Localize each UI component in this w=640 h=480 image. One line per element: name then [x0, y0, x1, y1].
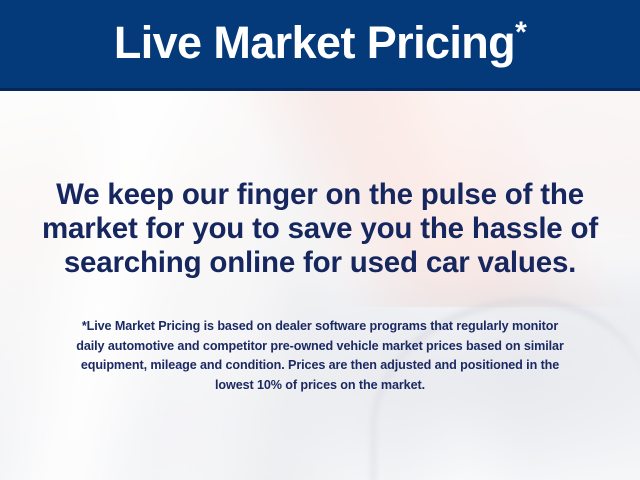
header-band: Live Market Pricing* — [0, 0, 640, 88]
headline: We keep our finger on the pulse of the m… — [22, 178, 618, 280]
disclaimer-line-1: *Live Market Pricing is based on dealer … — [26, 317, 614, 337]
disclaimer-fineprint: *Live Market Pricing is based on dealer … — [26, 317, 614, 395]
page-title: Live Market Pricing* — [114, 20, 526, 68]
page-title-text: Live Market Pricing — [114, 17, 515, 68]
headline-line-3: searching online for used car values. — [22, 246, 618, 280]
headline-line-2: market for you to save you the hassle of — [22, 212, 618, 246]
disclaimer-line-4: lowest 10% of prices on the market. — [26, 376, 614, 396]
disclaimer-line-3: equipment, mileage and condition. Prices… — [26, 356, 614, 376]
disclaimer-line-2: daily automotive and competitor pre-owne… — [26, 337, 614, 357]
headline-line-1: We keep our finger on the pulse of the — [22, 178, 618, 212]
header-bottom-rule — [0, 88, 640, 91]
live-market-pricing-banner: Live Market Pricing* We keep our finger … — [0, 0, 640, 480]
page-title-asterisk: * — [515, 16, 526, 49]
